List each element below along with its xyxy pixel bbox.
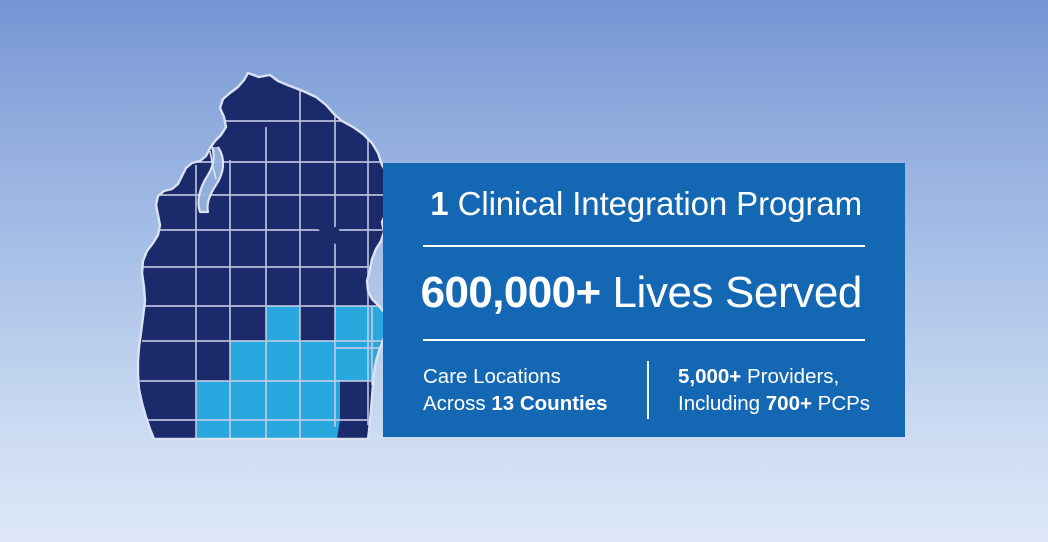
sub-stats-row: Care Locations Across 13 Counties 5,000+… xyxy=(423,341,865,437)
map-dark-corner-county xyxy=(336,420,372,445)
stat-pcps-suffix: PCPs xyxy=(812,392,870,415)
highlighted-county xyxy=(266,341,300,381)
highlighted-county xyxy=(266,381,300,420)
stat-program-row: 1 Clinical Integration Program xyxy=(423,163,865,245)
highlighted-county xyxy=(266,306,300,341)
stat-pcps-count: 700+ xyxy=(766,392,812,415)
infographic-canvas: 1 Clinical Integration Program 600,000+ … xyxy=(0,0,1048,542)
stat-lives-label: Lives Served xyxy=(612,268,862,317)
stat-lives-number: 600,000+ xyxy=(421,268,601,317)
highlighted-county xyxy=(230,381,266,420)
stat-providers: 5,000+ Providers, Including 700+ PCPs xyxy=(649,363,870,418)
highlighted-county xyxy=(300,341,335,381)
highlighted-county xyxy=(196,381,230,420)
stat-care-locations-line2: Across 13 Counties xyxy=(423,390,647,417)
stat-providers-count: 5,000+ xyxy=(678,365,741,388)
stat-providers-line2: Including 700+ PCPs xyxy=(678,390,870,417)
stat-lives-row: 600,000+ Lives Served xyxy=(423,247,865,339)
stat-program-label: Clinical Integration Program xyxy=(458,185,862,222)
stat-lives-text: 600,000+ Lives Served xyxy=(421,271,862,315)
stats-panel: 1 Clinical Integration Program 600,000+ … xyxy=(383,163,905,437)
highlighted-county xyxy=(230,341,266,381)
stat-providers-suffix: Providers, xyxy=(741,365,839,388)
stat-care-locations-prefix: Across xyxy=(423,392,491,415)
highlighted-county xyxy=(300,381,340,420)
stat-pcps-prefix: Including xyxy=(678,392,766,415)
stat-providers-line1: 5,000+ Providers, xyxy=(678,363,870,390)
stat-care-locations: Care Locations Across 13 Counties xyxy=(423,363,647,418)
stat-care-locations-line1: Care Locations xyxy=(423,363,647,390)
divider-vertical xyxy=(647,361,649,419)
stat-care-locations-counties: 13 Counties xyxy=(491,392,607,415)
stat-program-number: 1 xyxy=(430,185,448,222)
stat-program-text: 1 Clinical Integration Program xyxy=(430,187,862,222)
highlighted-county xyxy=(335,348,368,381)
